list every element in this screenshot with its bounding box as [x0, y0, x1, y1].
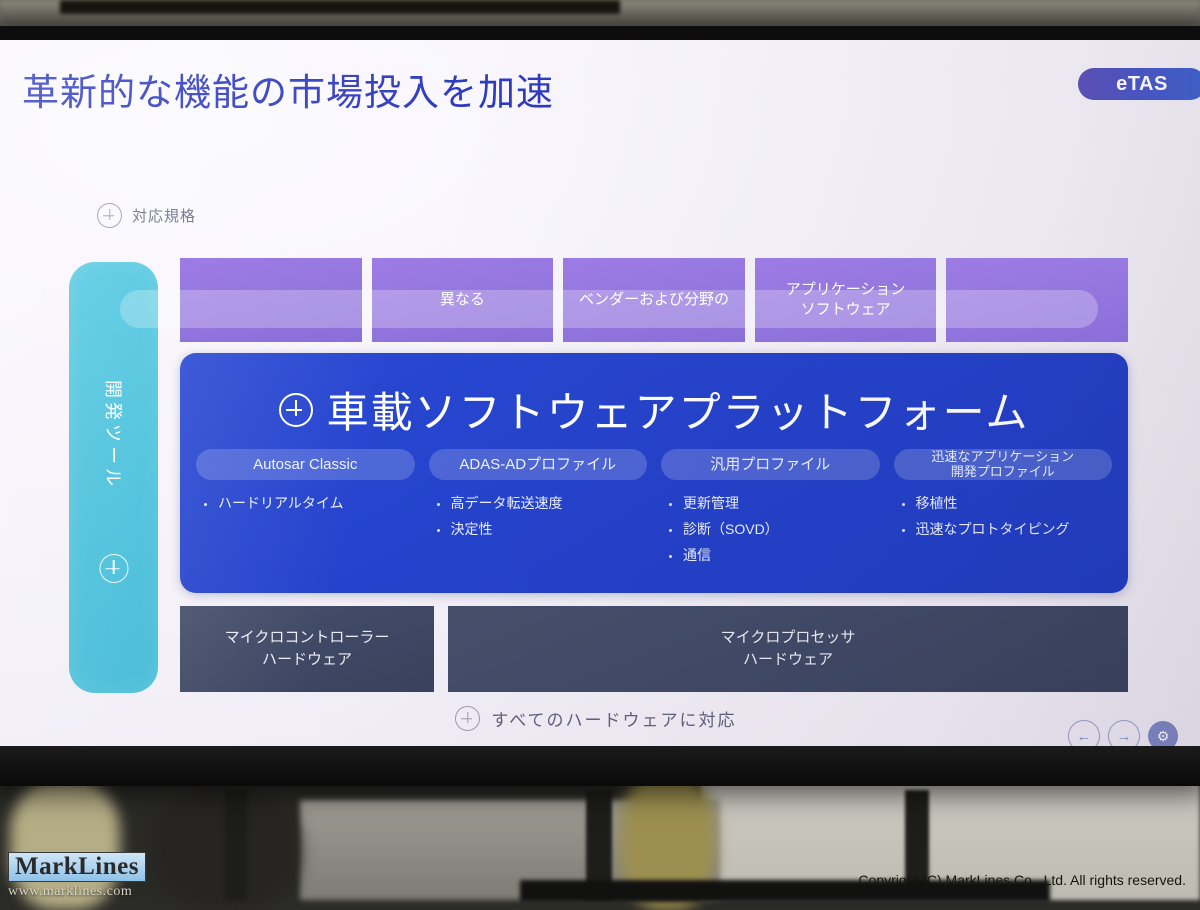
platform-heading: 車載ソフトウェアプラットフォーム	[180, 379, 1128, 440]
profile-columns: Autosar Classic ハードリアルタイム ADAS-ADプロファイル …	[196, 449, 1112, 569]
band-segment: ベンダーおよび分野の	[563, 258, 745, 342]
slide-navigation: ← → ⚙	[1068, 720, 1178, 746]
band-segment	[180, 258, 362, 342]
display-monitor: 革新的な機能の市場投入を加速 eTAS 対応規格 開発ツール 異なる ベンダーお…	[0, 26, 1200, 786]
hardware-support-footnote: すべてのハードウェアに対応	[0, 706, 1200, 731]
plus-circle-icon[interactable]	[279, 393, 313, 427]
list-item: 更新管理	[661, 491, 880, 517]
profile-feature-list: ハードリアルタイム	[196, 491, 415, 517]
gear-icon[interactable]: ⚙	[1148, 721, 1178, 746]
list-item: 通信	[661, 543, 880, 569]
dev-tools-rail[interactable]: 開発ツール	[69, 262, 158, 693]
profile-header[interactable]: 汎用プロファイル	[661, 449, 880, 480]
hardware-box-microcontroller: マイクロコントローラー ハードウェア	[180, 606, 434, 692]
profile-header[interactable]: Autosar Classic	[196, 449, 415, 480]
etas-logo: eTAS	[1078, 68, 1200, 100]
band-segment	[946, 258, 1128, 342]
monitor-bezel-top	[0, 26, 1200, 40]
presentation-slide: 革新的な機能の市場投入を加速 eTAS 対応規格 開発ツール 異なる ベンダーお…	[0, 40, 1200, 746]
plus-circle-icon[interactable]	[99, 554, 128, 583]
copyright-notice: Copyright (C) MarkLines Co., Ltd. All ri…	[858, 872, 1186, 888]
dev-tools-rail-label: 開発ツール	[101, 380, 127, 490]
plus-circle-icon[interactable]	[455, 706, 480, 731]
profile-header[interactable]: ADAS-ADプロファイル	[429, 449, 648, 480]
etas-logo-text: eTAS	[1116, 73, 1168, 96]
profile-feature-list: 更新管理 診断（SOVD） 通信	[661, 491, 880, 569]
standards-kicker-label: 対応規格	[132, 205, 196, 226]
hardware-support-label: すべてのハードウェアに対応	[491, 706, 736, 731]
hardware-row: マイクロコントローラー ハードウェア マイクロプロセッサ ハードウェア	[180, 606, 1128, 692]
platform-heading-text: 車載ソフトウェアプラットフォーム	[327, 379, 1030, 440]
arrow-left-icon[interactable]: ←	[1068, 720, 1100, 746]
hardware-box-microprocessor: マイクロプロセッサ ハードウェア	[448, 606, 1128, 692]
monitor-screen: 革新的な機能の市場投入を加速 eTAS 対応規格 開発ツール 異なる ベンダーお…	[0, 40, 1200, 746]
list-item: 移植性	[894, 491, 1113, 517]
profile-feature-list: 高データ転送速度 決定性	[429, 491, 648, 543]
monitor-bezel-bottom	[0, 746, 1200, 786]
list-item: ハードリアルタイム	[196, 491, 415, 517]
marklines-watermark: MarkLines www.marklines.com	[8, 852, 146, 900]
profile-header[interactable]: 迅速なアプリケーション 開発プロファイル	[894, 449, 1113, 480]
vehicle-software-platform-panel: 車載ソフトウェアプラットフォーム Autosar Classic ハードリアルタ…	[180, 353, 1128, 593]
application-software-band: 異なる ベンダーおよび分野の アプリケーション ソフトウェア	[180, 258, 1128, 342]
list-item: 診断（SOVD）	[661, 517, 880, 543]
page-title: 革新的な機能の市場投入を加速	[22, 62, 554, 116]
profile-column-adas-ad: ADAS-ADプロファイル 高データ転送速度 決定性	[429, 449, 648, 569]
marklines-url: www.marklines.com	[8, 884, 146, 900]
band-segment: 異なる	[372, 258, 554, 342]
profile-column-rapid-app-dev: 迅速なアプリケーション 開発プロファイル 移植性 迅速なプロトタイピング	[894, 449, 1113, 569]
standards-kicker: 対応規格	[97, 203, 196, 228]
list-item: 高データ転送速度	[429, 491, 648, 517]
marklines-logo: MarkLines	[8, 852, 146, 882]
ceiling-strip-blur	[60, 0, 620, 14]
arrow-right-icon[interactable]: →	[1108, 720, 1140, 746]
plus-circle-icon[interactable]	[97, 203, 122, 228]
list-item: 迅速なプロトタイピング	[894, 517, 1113, 543]
profile-column-autosar-classic: Autosar Classic ハードリアルタイム	[196, 449, 415, 569]
profile-feature-list: 移植性 迅速なプロトタイピング	[894, 491, 1113, 543]
list-item: 決定性	[429, 517, 648, 543]
band-segment: アプリケーション ソフトウェア	[755, 258, 937, 342]
profile-column-general-purpose: 汎用プロファイル 更新管理 診断（SOVD） 通信	[661, 449, 880, 569]
stand-post-left	[225, 790, 247, 900]
